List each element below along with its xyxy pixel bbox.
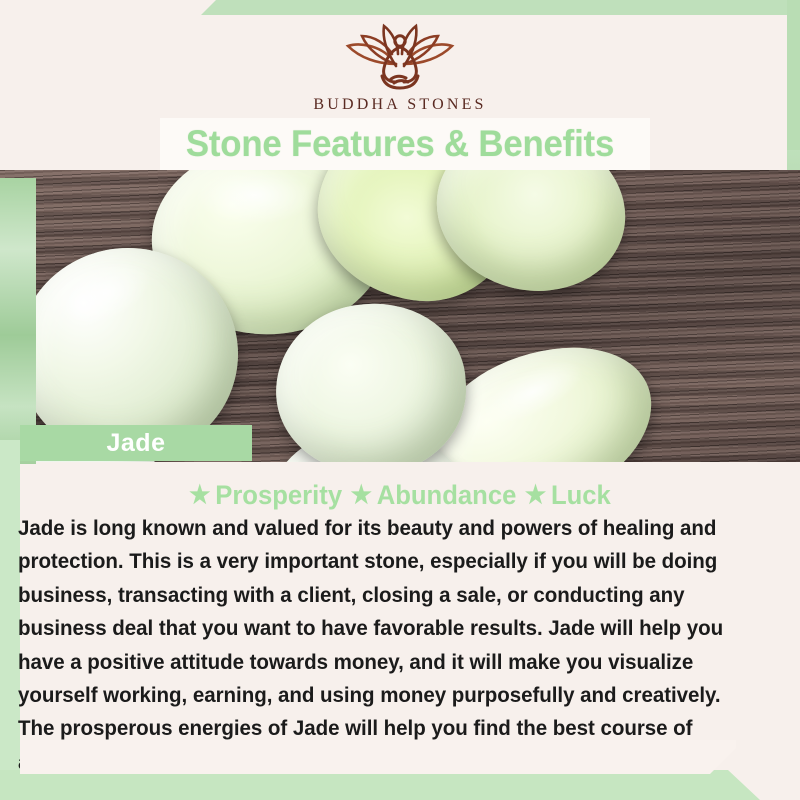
jade-stones-photo	[0, 170, 800, 462]
page-title: Stone Features & Benefits	[24, 118, 776, 170]
benefit-label: Luck	[551, 480, 611, 511]
stone-name-label: Jade	[20, 425, 252, 461]
brand-name: BUDDHA STONES	[313, 96, 486, 114]
star-icon: ★	[525, 483, 546, 508]
left-green-band-lower	[0, 440, 20, 775]
star-icon: ★	[351, 483, 372, 508]
benefit-item: ★ Prosperity	[189, 480, 342, 511]
lotus-meditation-icon	[326, 20, 474, 92]
benefit-item: ★ Abundance	[351, 480, 517, 511]
benefit-label: Prosperity	[215, 480, 342, 511]
star-icon: ★	[189, 483, 210, 508]
benefit-item: ★ Luck	[525, 480, 611, 511]
infographic-card: BUDDHA STONES Stone Features & Benefits	[0, 0, 800, 800]
left-green-band	[0, 178, 36, 464]
benefit-label: Abundance	[377, 480, 517, 511]
bottom-paper-overlay	[20, 740, 736, 774]
brand-logo: BUDDHA STONES	[0, 20, 800, 120]
bottom-green-band	[0, 770, 800, 800]
top-green-band	[0, 0, 800, 15]
benefits-row: ★ Prosperity ★ Abundance ★ Luck	[20, 478, 780, 512]
